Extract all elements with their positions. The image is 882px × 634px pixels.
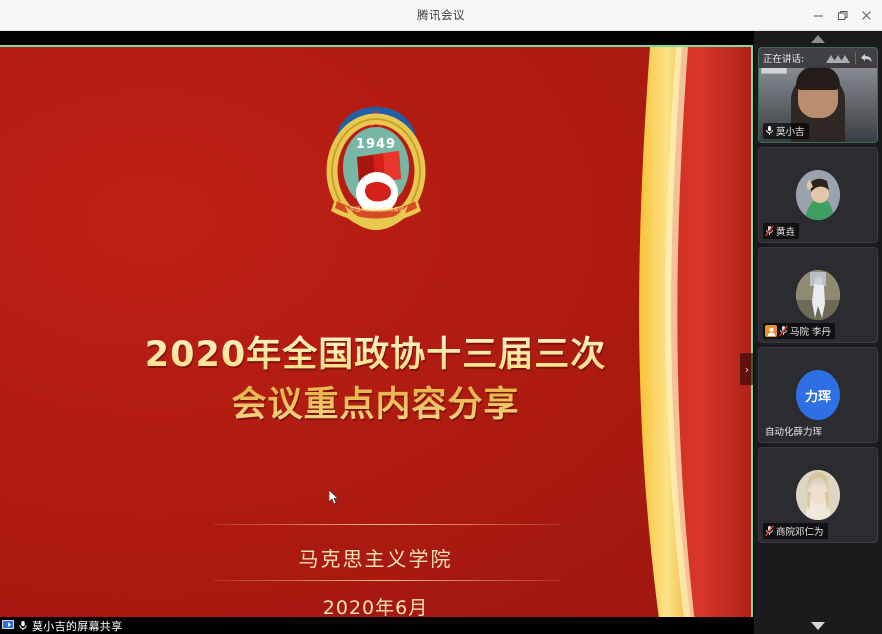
cppcc-emblem: 1949 中国人民政治协商会议 [321,101,431,236]
microphone-muted-icon [765,525,774,537]
participant-name-3: 马院 李丹 [790,324,831,338]
participant-tile-1[interactable]: 正在讲话: [758,47,878,143]
participant-name-plate-5: 商院邓仁为 [763,523,828,539]
restore-icon [837,10,848,21]
video-person-hair [796,66,840,90]
reply-arrow-icon[interactable] [860,52,873,64]
svg-text:中国人民政治协商会议: 中国人民政治协商会议 [349,205,404,213]
restore-button[interactable] [830,4,854,28]
emblem-icon: 1949 中国人民政治协商会议 [321,101,431,236]
volume-level-icon [825,52,851,64]
title-bar: 腾讯会议 [0,0,882,31]
slide-title-line-2: 会议重点内容分享 [0,380,751,430]
participant-tile-5[interactable]: 商院邓仁为 [758,447,878,543]
minimize-icon [813,10,824,21]
presentation-slide: 1949 中国人民政治协商会议 [0,47,751,622]
screen-share-icon [2,620,14,631]
participant-tile-4[interactable]: 力珲 自动化薛力珲 [758,347,878,443]
scroll-up-button[interactable] [754,31,882,47]
slide-date: 2020年6月 [0,593,751,620]
mouse-cursor [329,490,339,505]
participant-sidebar: 正在讲话: [754,31,882,634]
status-bar: 莫小吉的屏幕共享 [0,617,754,634]
chevron-up-icon [811,35,825,43]
close-icon [861,10,872,21]
meeting-window: 腾讯会议 [0,0,882,634]
shared-screen-stage: 1949 中国人民政治协商会议 [0,31,754,634]
cursor-icon [329,490,339,505]
avatar-photo [796,270,840,320]
chevron-down-icon [811,622,825,630]
window-title: 腾讯会议 [417,7,465,23]
participant-tile-2[interactable]: 黄垚 [758,147,878,243]
participant-name-4: 自动化薛力珲 [765,424,822,438]
participant-name-plate-1: 莫小吉 [763,123,809,139]
participant-name-plate-3: 马院 李丹 [763,323,835,339]
collapse-sidebar-button[interactable]: › [740,353,754,385]
speaking-label: 正在讲话: [763,51,804,65]
host-badge-icon [765,325,777,337]
participant-tiles: 正在讲话: [754,47,882,618]
participant-name-5: 商院邓仁为 [776,524,824,538]
share-status-text: 莫小吉的屏幕共享 [32,618,122,634]
divider-top [214,524,559,525]
speaking-indicator-bar: 正在讲话: [759,48,877,68]
participant-name-plate-2: 黄垚 [763,223,799,239]
participant-tile-3[interactable]: 马院 李丹 [758,247,878,343]
slide-title-line-1: 2020年全国政协十三届三次 [0,330,751,380]
participant-name-plate-4: 自动化薛力珲 [763,423,826,439]
minimize-button[interactable] [806,4,830,28]
microphone-muted-icon [765,225,774,237]
avatar-photo [796,170,840,220]
avatar-photo [796,470,840,520]
scroll-down-button[interactable] [754,618,882,634]
divider [855,52,856,64]
divider-bottom [214,580,559,581]
svg-text:1949: 1949 [355,137,395,152]
microphone-icon [765,125,774,137]
participant-avatar-3 [796,270,840,320]
participant-avatar-5 [796,470,840,520]
participant-avatar-2 [796,170,840,220]
slide-organization: 马克思主义学院 [0,543,751,572]
avatar-initials-4: 力珲 [805,386,831,405]
slide-title: 2020年全国政协十三届三次 会议重点内容分享 [0,330,751,430]
close-button[interactable] [854,4,878,28]
participant-avatar-4: 力珲 [796,370,840,420]
shared-screen-frame[interactable]: 1949 中国人民政治协商会议 [0,45,753,624]
participant-name-2: 黄垚 [776,224,795,238]
microphone-icon [17,620,29,631]
microphone-muted-icon [779,325,788,337]
participant-name-1: 莫小吉 [776,124,805,138]
person-icon [767,327,776,336]
window-controls [806,0,878,31]
